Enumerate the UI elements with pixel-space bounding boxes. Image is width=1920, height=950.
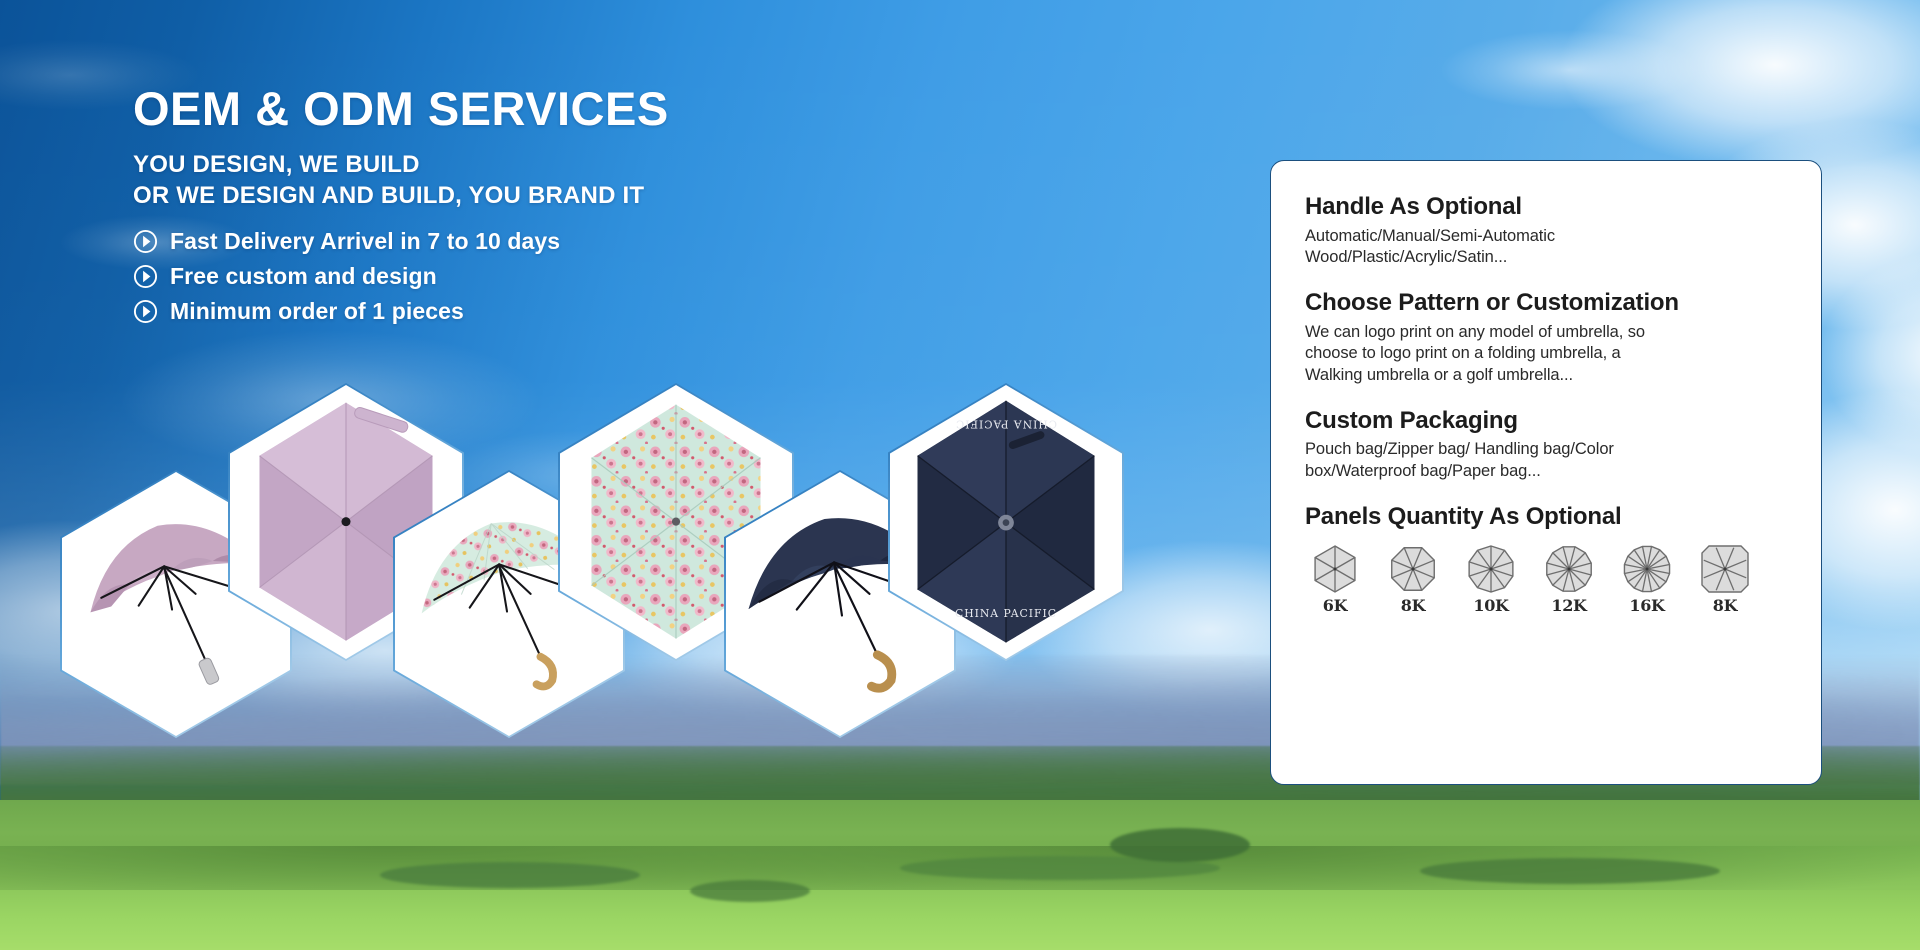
card-section-panels: Panels Quantity As Optional 6K8K10K12K16… <box>1305 503 1787 616</box>
umbrella-brand-mark-bottom: CHINA PACIFIC <box>955 607 1057 620</box>
panel-option-10k[interactable]: 10K <box>1463 543 1519 615</box>
product-hex-gallery: CHINA PACIFIC CHINA PACIFIC <box>0 0 1270 950</box>
card-section-title: Custom Packaging <box>1305 407 1787 436</box>
card-section-body: Automatic/Manual/Semi-Automatic Wood/Pla… <box>1305 226 1787 269</box>
panel-option-label: 16K <box>1619 596 1675 615</box>
panel-option-16k[interactable]: 16K <box>1619 543 1675 615</box>
panel-option-8k[interactable]: 8K <box>1385 543 1441 615</box>
panel-diagram-icon <box>1309 543 1361 595</box>
panel-option-label: 6K <box>1307 596 1363 615</box>
panel-diagram-icon <box>1699 543 1751 595</box>
panel-option-label: 12K <box>1541 596 1597 615</box>
card-section-packaging: Custom Packaging Pouch bag/Zipper bag/ H… <box>1305 407 1787 483</box>
panel-option-12k[interactable]: 12K <box>1541 543 1597 615</box>
panel-option-6k[interactable]: 6K <box>1307 543 1363 615</box>
panel-diagram-icon <box>1465 543 1517 595</box>
panel-option-8k[interactable]: 8K <box>1697 543 1753 615</box>
panel-quantity-row: 6K8K10K12K16K8K <box>1305 543 1787 615</box>
card-body-line: choose to logo print on a folding umbrel… <box>1305 343 1787 365</box>
card-body-line: box/Waterproof bag/Paper bag... <box>1305 461 1787 483</box>
banner-stage: OEM & ODM SERVICES YOU DESIGN, WE BUILD … <box>0 0 1920 950</box>
card-body-line: We can logo print on any model of umbrel… <box>1305 322 1787 344</box>
panel-option-label: 8K <box>1385 596 1441 615</box>
panel-option-label: 10K <box>1463 596 1519 615</box>
card-body-line: Automatic/Manual/Semi-Automatic <box>1305 226 1787 248</box>
card-section-body: Pouch bag/Zipper bag/ Handling bag/Color… <box>1305 439 1787 482</box>
panel-diagram-icon <box>1621 543 1673 595</box>
panel-diagram-icon <box>1543 543 1595 595</box>
card-section-pattern: Choose Pattern or Customization We can l… <box>1305 289 1787 387</box>
umbrella-brand-mark-top: CHINA PACIFIC <box>955 417 1057 430</box>
card-section-body: We can logo print on any model of umbrel… <box>1305 322 1787 387</box>
card-body-line: Walking umbrella or a golf umbrella... <box>1305 365 1787 387</box>
features-info-card: Handle As Optional Automatic/Manual/Semi… <box>1270 160 1822 785</box>
card-section-title: Handle As Optional <box>1305 193 1787 222</box>
card-section-handle: Handle As Optional Automatic/Manual/Semi… <box>1305 193 1787 269</box>
card-section-title: Panels Quantity As Optional <box>1305 503 1787 532</box>
panel-diagram-icon <box>1387 543 1439 595</box>
card-section-title: Choose Pattern or Customization <box>1305 289 1787 318</box>
card-body-line: Wood/Plastic/Acrylic/Satin... <box>1305 247 1787 269</box>
card-body-line: Pouch bag/Zipper bag/ Handling bag/Color <box>1305 439 1787 461</box>
panel-option-label: 8K <box>1697 596 1753 615</box>
